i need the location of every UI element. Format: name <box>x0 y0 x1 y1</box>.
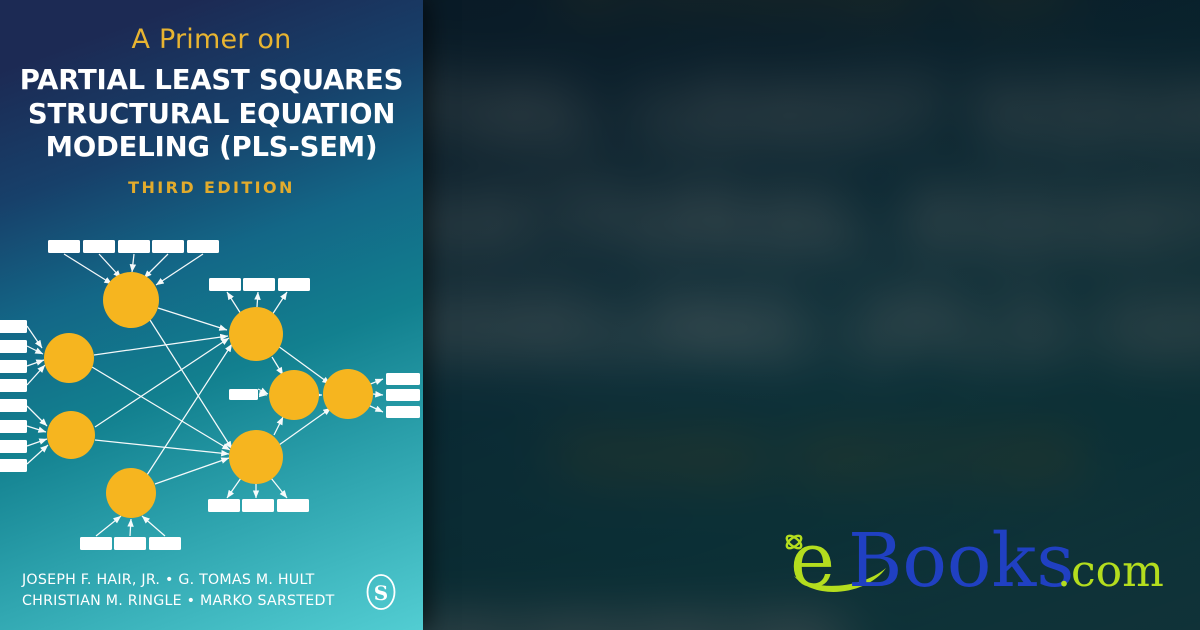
cover-subtitle: A Primer on <box>14 24 409 55</box>
sage-logo: S <box>361 570 401 614</box>
ebooks-com-logo[interactable]: e Books .com <box>776 510 1188 614</box>
author-line-1: JOSEPH F. HAIR, JR. • G. TOMAS M. HULT <box>22 570 352 591</box>
cover-title-line-1: PARTIAL LEAST SQUARES <box>14 64 409 98</box>
svg-text:S: S <box>374 581 388 605</box>
construct-node <box>323 369 373 419</box>
promo-image: A Primer on PARTIAL LEAST SQUARES STRUCT… <box>0 0 1200 630</box>
cover-title-block: A Primer on PARTIAL LEAST SQUARES STRUCT… <box>0 24 423 197</box>
construct-node <box>229 307 283 361</box>
cover-title: PARTIAL LEAST SQUARES STRUCTURAL EQUATIO… <box>14 64 409 165</box>
book-cover[interactable]: A Primer on PARTIAL LEAST SQUARES STRUCT… <box>0 0 423 630</box>
pls-sem-path-diagram <box>0 228 423 568</box>
cover-edition: THIRD EDITION <box>14 178 409 197</box>
logo-word-books: Books <box>848 518 1074 604</box>
logo-word-com: .com <box>1057 546 1164 597</box>
construct-node <box>269 370 319 420</box>
cover-authors: JOSEPH F. HAIR, JR. • G. TOMAS M. HULT C… <box>22 570 352 612</box>
construct-node <box>47 411 95 459</box>
construct-node <box>106 468 156 518</box>
cover-title-line-3: MODELING (PLS-SEM) <box>14 131 409 165</box>
cover-title-line-2: STRUCTURAL EQUATION <box>14 98 409 132</box>
construct-node <box>44 333 94 383</box>
author-line-2: CHRISTIAN M. RINGLE • MARKO SARSTEDT <box>22 591 352 612</box>
construct-node <box>229 430 283 484</box>
construct-node <box>103 272 159 328</box>
